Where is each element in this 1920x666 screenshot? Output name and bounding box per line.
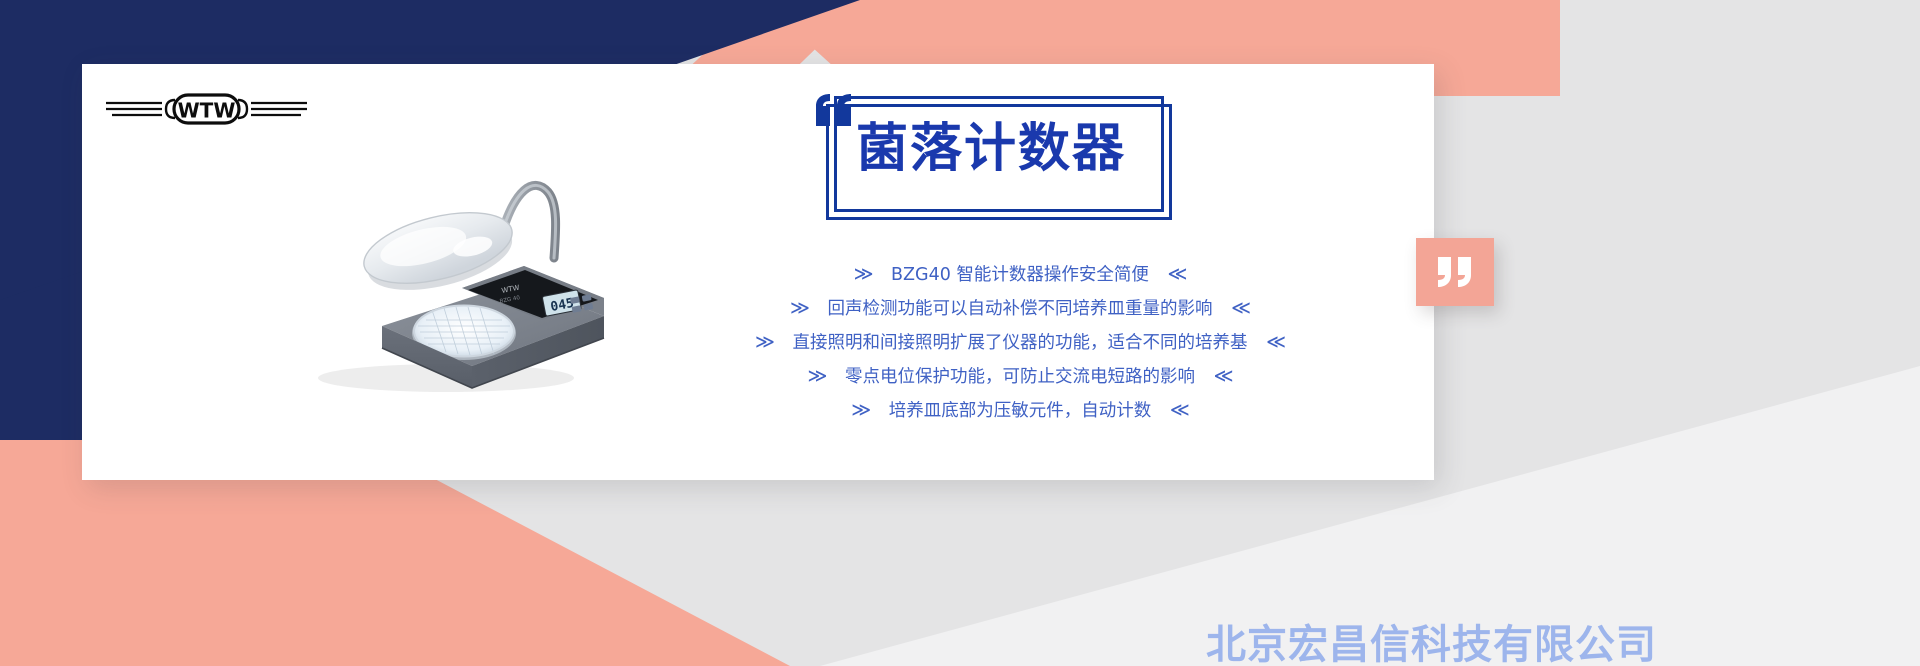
list-item-label: 回声检测功能可以自动补偿不同培养皿重量的影响	[820, 299, 1221, 319]
wtw-logo-text: WTW	[178, 99, 236, 123]
chevron-left-icon: ≪	[1165, 399, 1194, 421]
page-title: 菌落计数器	[856, 118, 1158, 180]
chevron-left-icon: ≪	[1226, 297, 1255, 319]
quote-open-icon	[812, 92, 858, 132]
list-item-label: 直接照明和间接照明扩展了仪器的功能，适合不同的培养基	[785, 333, 1256, 353]
colony-counter-photo: WTW BZG 40 045	[286, 130, 616, 400]
chevron-right-icon: ≫	[849, 263, 878, 285]
list-item-label: 零点电位保护功能，可防止交流电短路的影响	[837, 367, 1203, 387]
title-block: 菌落计数器	[812, 92, 1172, 220]
chevron-right-icon: ≫	[750, 331, 779, 353]
banner-stage: WTW	[0, 0, 1920, 666]
chevron-right-icon: ≫	[846, 399, 875, 421]
chevron-right-icon: ≫	[803, 365, 832, 387]
chevron-right-icon: ≫	[785, 297, 814, 319]
list-item-label: BZG40 智能计数器操作安全简便	[883, 265, 1157, 285]
list-item-label: 培养皿底部为压敏元件，自动计数	[881, 401, 1160, 421]
feature-list: ≫ BZG40 智能计数器操作安全简便 ≪ ≫ 回声检测功能可以自动补偿不同培养…	[640, 258, 1400, 428]
quote-close-badge	[1416, 238, 1494, 306]
chevron-left-icon: ≪	[1261, 331, 1290, 353]
list-item: ≫ 直接照明和间接照明扩展了仪器的功能，适合不同的培养基 ≪	[640, 326, 1400, 360]
list-item: ≫ 回声检测功能可以自动补偿不同培养皿重量的影响 ≪	[640, 292, 1400, 326]
wtw-logo: WTW	[104, 88, 309, 130]
chevron-left-icon: ≪	[1163, 263, 1192, 285]
list-item: ≫ 零点电位保护功能，可防止交流电短路的影响 ≪	[640, 360, 1400, 394]
watermark-text: 北京宏昌信科技有限公司	[1206, 612, 1906, 666]
chevron-left-icon: ≪	[1209, 365, 1238, 387]
quote-close-icon	[1435, 255, 1475, 289]
list-item: ≫ 培养皿底部为压敏元件，自动计数 ≪	[640, 394, 1400, 428]
list-item: ≫ BZG40 智能计数器操作安全简便 ≪	[640, 258, 1400, 292]
